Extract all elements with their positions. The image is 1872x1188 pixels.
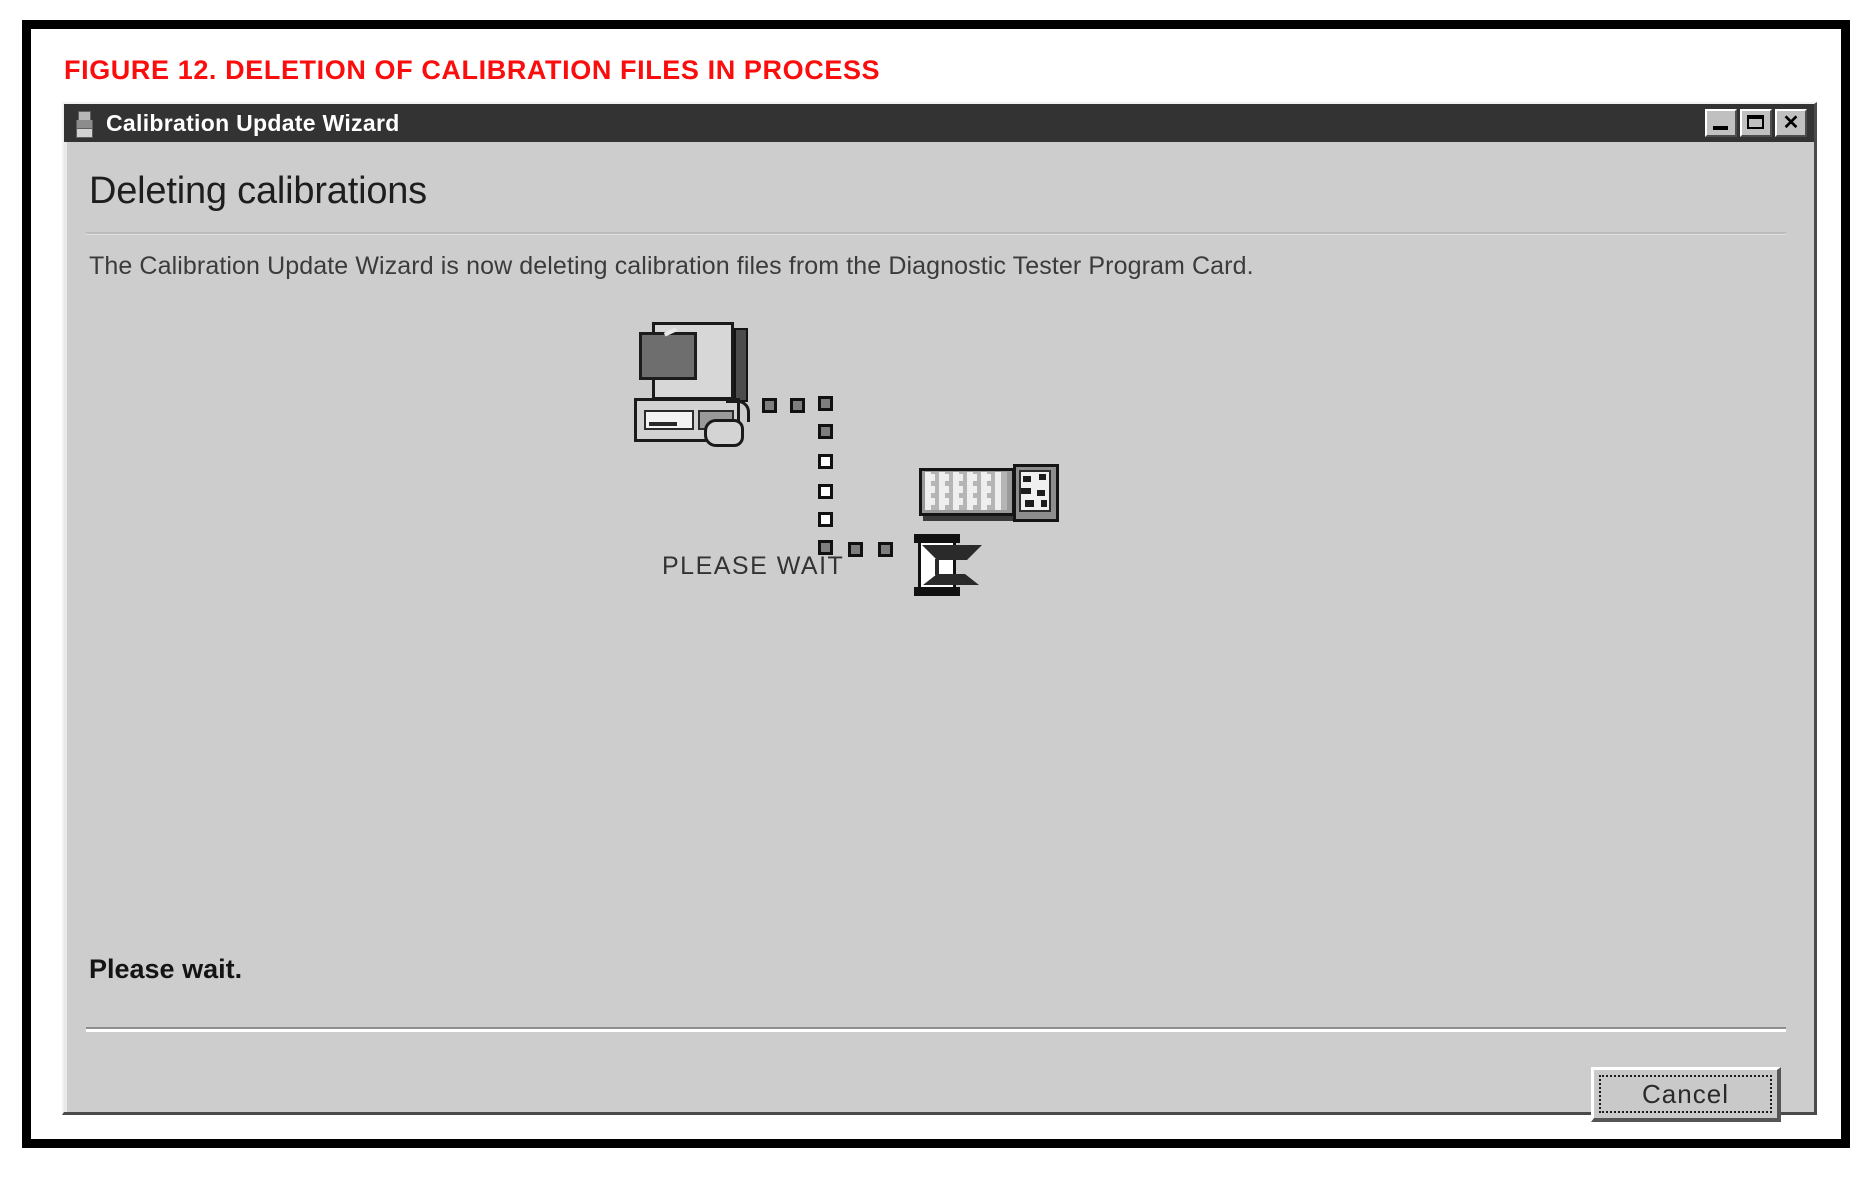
transfer-dot [818,512,833,527]
maximize-button[interactable] [1740,109,1772,137]
cancel-button-label: Cancel [1642,1079,1729,1110]
window-title: Calibration Update Wizard [106,110,1705,137]
minimize-button[interactable] [1705,109,1737,137]
hourglass-icon [914,534,960,596]
footer-divider [86,1027,1786,1032]
status-message: Please wait. [89,954,242,985]
page-title: Deleting calibrations [89,170,427,213]
figure-title: FIGURE 12. DELETION OF CALIBRATION FILES… [64,55,880,86]
close-icon: ✕ [1777,111,1805,135]
transfer-dot [818,484,833,499]
tester-device-icon [74,111,93,136]
diagnostic-tester-icon [919,464,1059,526]
page-description: The Calibration Update Wizard is now del… [89,252,1254,281]
transfer-animation-artwork: PLEASE WAIT [594,322,1064,662]
wizard-body: Deleting calibrations The Calibration Up… [64,142,1814,1112]
transfer-dot [818,454,833,469]
figure-frame: FIGURE 12. DELETION OF CALIBRATION FILES… [22,20,1850,1148]
desktop-computer-icon [630,322,758,452]
cancel-focus-ring: Cancel [1599,1075,1772,1113]
maximize-icon [1747,115,1764,129]
heading-divider [86,232,1786,235]
transfer-dot [762,398,777,413]
window-titlebar[interactable]: Calibration Update Wizard ✕ [64,104,1814,142]
body-left-edge [64,142,67,1112]
window-control-buttons: ✕ [1705,109,1807,137]
close-button[interactable]: ✕ [1775,109,1807,137]
transfer-dot [818,396,833,411]
minimize-icon [1713,126,1728,130]
cancel-button[interactable]: Cancel [1591,1067,1781,1122]
calibration-update-wizard-window: Calibration Update Wizard ✕ Deleting cal… [62,102,1817,1115]
transfer-status-label: PLEASE WAIT [662,552,844,581]
transfer-dot [790,398,805,413]
transfer-dot [818,424,833,439]
transfer-dot [848,542,863,557]
transfer-dot [878,542,893,557]
